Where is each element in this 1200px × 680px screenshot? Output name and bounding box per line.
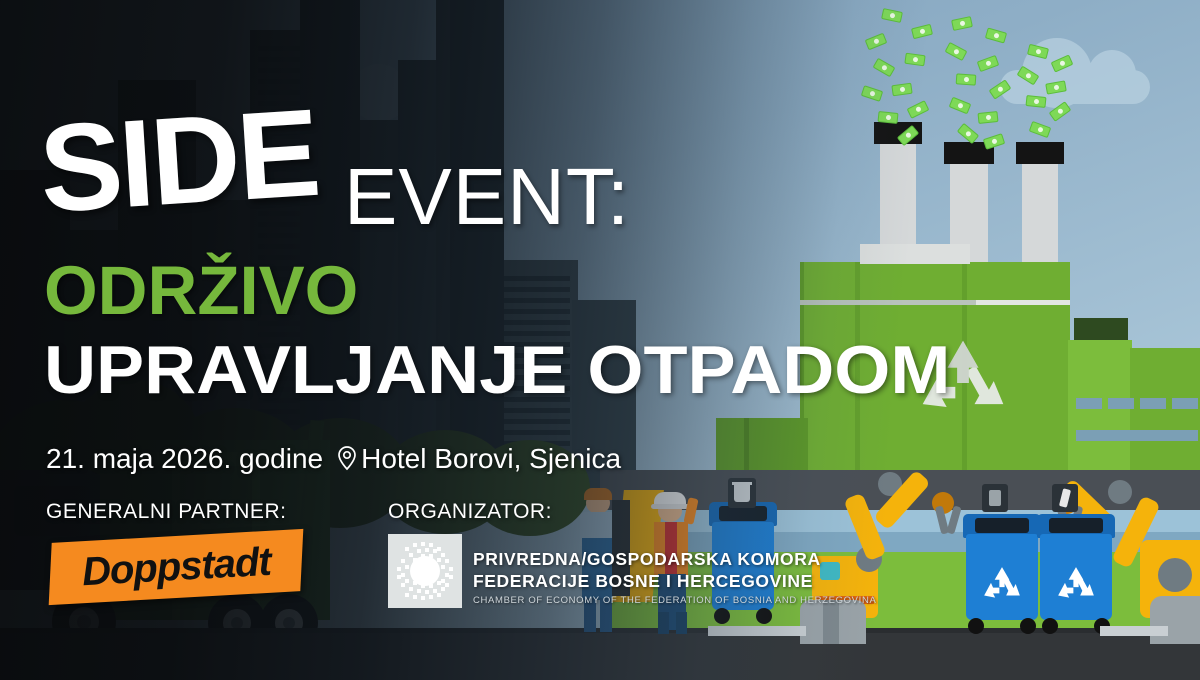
event-venue: Hotel Borovi, Sjenica: [361, 443, 621, 475]
headline-emphasis: SIDE: [36, 91, 321, 232]
chamber-of-economy-text: PRIVREDNA/GOSPODARSKA KOMORA FEDERACIJE …: [473, 534, 876, 606]
event-details: 21. maja 2026. godine Hotel Borovi, Sjen…: [46, 443, 621, 475]
chamber-of-economy-logo[interactable]: PRIVREDNA/GOSPODARSKA KOMORA FEDERACIJE …: [388, 534, 876, 608]
copy-layer: SIDE EVENT: ODRŽIVO UPRAVLJANJE OTPADOM …: [0, 0, 1200, 680]
doppstadt-logo-text: Doppstadt: [81, 539, 272, 594]
event-date: 21. maja 2026. godine: [46, 443, 323, 475]
headline-white-line: UPRAVLJANJE OTPADOM: [44, 336, 950, 404]
organizer-label: ORGANIZATOR:: [388, 500, 552, 524]
doppstadt-logo[interactable]: Doppstadt: [49, 529, 304, 605]
event-banner: SIDE EVENT: ODRŽIVO UPRAVLJANJE OTPADOM …: [0, 0, 1200, 680]
headline-green-line: ODRŽIVO: [44, 256, 358, 325]
headline-rest: EVENT:: [344, 157, 630, 237]
organizer-name-line1: PRIVREDNA/GOSPODARSKA KOMORA: [473, 548, 876, 570]
organizer-name-line2: FEDERACIJE BOSNE I HERCEGOVINE: [473, 570, 876, 592]
location-pin-icon: [335, 445, 359, 473]
general-partner-label: GENERALNI PARTNER:: [46, 500, 286, 524]
halftone-circle-icon: [388, 534, 462, 608]
organizer-name-subtitle: CHAMBER OF ECONOMY OF THE FEDERATION OF …: [473, 595, 876, 606]
